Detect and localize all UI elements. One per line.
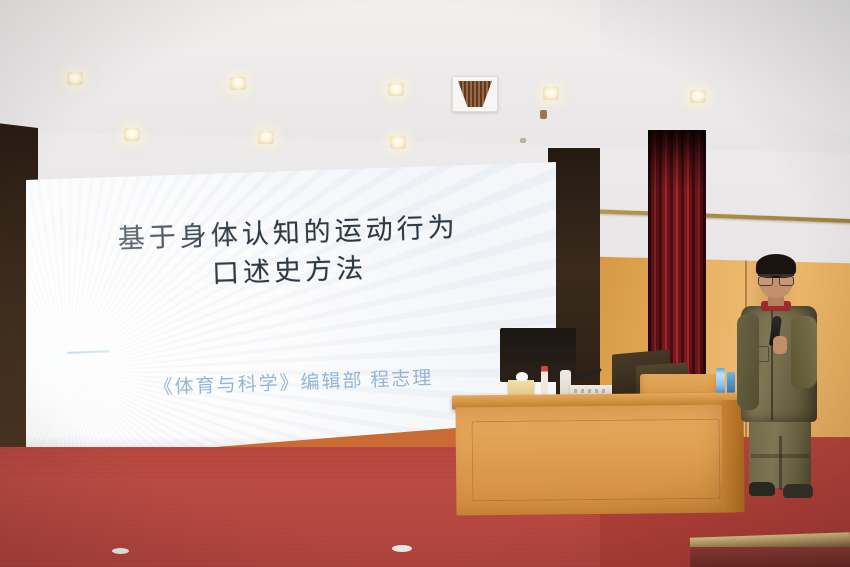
stage-curtain-shadow: [648, 130, 706, 190]
slide-title: 基于身体认知的运动行为 口述史方法: [23, 205, 555, 300]
floor-object: [392, 545, 412, 552]
presenter-knee-crease: [751, 454, 809, 458]
slide-accent-rule: [67, 350, 109, 353]
tissue-box: [508, 380, 534, 396]
presenter: [735, 258, 827, 500]
stage-face: [690, 547, 850, 567]
presenter-arm-right: [791, 316, 817, 388]
floor-object: [112, 548, 129, 554]
downlight-icon: [258, 131, 274, 144]
ceiling-fitting: [520, 138, 526, 143]
presenter-hand: [773, 336, 787, 354]
downlight-icon: [390, 136, 406, 149]
downlight-icon: [230, 77, 246, 90]
presenter-shoe-left: [749, 482, 775, 496]
ceiling-fitting: [540, 110, 547, 119]
tissue-puff: [516, 372, 528, 381]
downlight-icon: [543, 87, 559, 100]
presenter-pants-seam: [779, 436, 782, 490]
downlight-icon: [67, 72, 83, 85]
desk-panel-inset: [472, 419, 721, 502]
presenter-arm-left: [737, 314, 759, 410]
downlight-icon: [124, 128, 140, 141]
air-vent-icon: [452, 76, 498, 112]
desk-front-panel: [455, 405, 736, 516]
glasses-icon: [758, 274, 794, 284]
red-cap-bottle: [541, 366, 548, 396]
downlight-icon: [690, 90, 706, 103]
downlight-icon: [388, 83, 404, 96]
lecture-hall-photo: 基于身体认知的运动行为 口述史方法 《体育与科学》编辑部 程志理: [0, 0, 850, 567]
presenter-shoe-right: [783, 484, 813, 498]
